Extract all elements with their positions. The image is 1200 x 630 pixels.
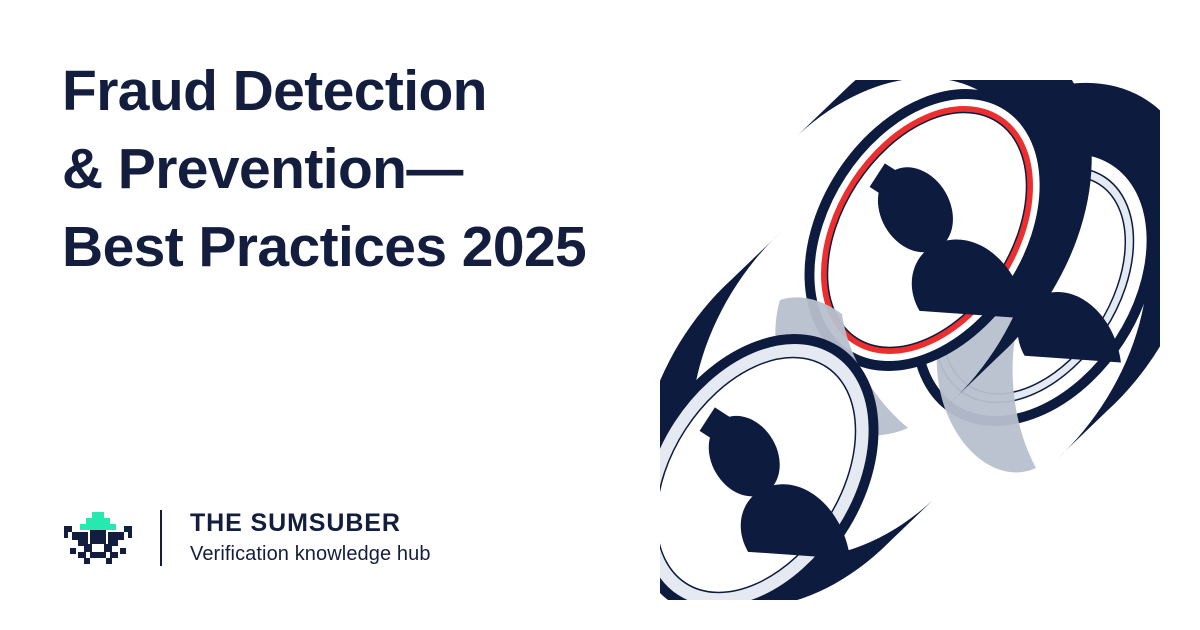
brand-text-block: THE SUMSUBER Verification knowledge hub (190, 508, 431, 568)
page-title: Fraud Detection & Prevention— Best Pract… (62, 52, 702, 286)
brand-name: THE SUMSUBER (190, 508, 431, 538)
social-card: Fraud Detection & Prevention— Best Pract… (0, 0, 1200, 630)
pixel-invader-cap (80, 512, 116, 530)
brand-tagline: Verification knowledge hub (190, 540, 431, 568)
pixel-invader-icon (62, 510, 134, 566)
vertical-divider (160, 510, 162, 566)
brand-lockup[interactable]: THE SUMSUBER Verification knowledge hub (62, 500, 431, 576)
isometric-identity-coins-illustration (660, 80, 1160, 600)
pixel-invader-body (64, 526, 132, 564)
